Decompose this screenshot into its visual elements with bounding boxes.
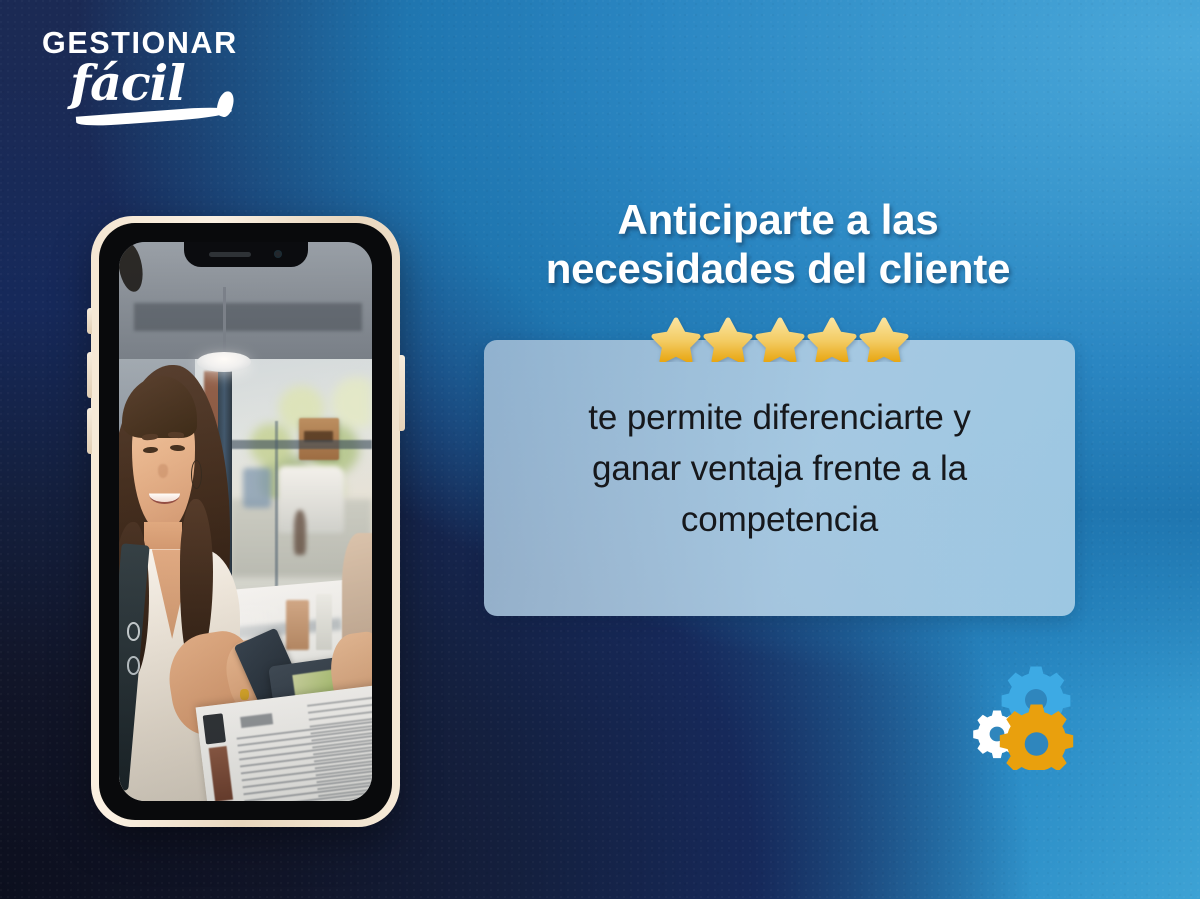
- photo-cup: [286, 600, 309, 650]
- benefit-card-text: te permite diferenciarte y ganar ventaja…: [514, 392, 1045, 545]
- phone-volume-up-button[interactable]: [87, 352, 92, 398]
- photo-car-white: [278, 466, 344, 533]
- star-icon: [702, 314, 754, 362]
- photo-wooden-sign: [299, 418, 339, 460]
- photo-pendant-lamp: [197, 352, 250, 372]
- front-camera-icon: [274, 250, 282, 258]
- photo-ceiling-beam: [134, 303, 362, 331]
- phone-silent-switch[interactable]: [87, 308, 92, 334]
- notch-icon: [184, 242, 308, 267]
- star-icon: [858, 314, 910, 362]
- benefit-card: te permite diferenciarte y ganar ventaja…: [484, 340, 1075, 616]
- star-icon: [650, 314, 702, 362]
- brand-logo-script-wrap: fácil: [42, 61, 292, 123]
- page-title: Anticiparte a las necesidades del client…: [452, 196, 1104, 293]
- photo-clipboard-clip: [203, 713, 226, 743]
- gears-icon: [968, 660, 1086, 770]
- brand-logo-script: fácil: [70, 59, 185, 108]
- earpiece-speaker-icon: [209, 252, 251, 257]
- photo-clipboard-label: [209, 746, 233, 801]
- page-title-line-1: Anticiparte a las: [452, 196, 1104, 245]
- page-title-line-2: necesidades del cliente: [452, 245, 1104, 294]
- benefit-card-line-1: te permite diferenciarte y: [514, 392, 1045, 443]
- phone-power-button[interactable]: [399, 355, 405, 431]
- brand-logo[interactable]: GESTIONAR fácil: [42, 28, 292, 133]
- customer-payment-photo: [119, 242, 372, 801]
- photo-clipboard-title: [241, 713, 274, 727]
- poster-canvas: GESTIONAR fácil: [0, 0, 1200, 899]
- photo-woman-smile: [149, 485, 179, 504]
- phone-bezel: [99, 223, 392, 820]
- photo-woman-earring: [191, 460, 202, 489]
- gear-orange: [1000, 705, 1073, 771]
- photo-bottle: [316, 594, 331, 650]
- phone-screen: [119, 242, 372, 801]
- phone-volume-down-button[interactable]: [87, 408, 92, 454]
- benefit-card-line-2: ganar ventaja frente a la: [514, 443, 1045, 494]
- photo-lamp-cord: [223, 287, 226, 360]
- star-icon: [754, 314, 806, 362]
- photo-bag-ring-2: [127, 656, 141, 675]
- benefit-card-line-3: competencia: [514, 494, 1045, 545]
- brand-logo-swoosh-tail: [215, 89, 237, 118]
- phone-mockup: [91, 216, 400, 827]
- photo-pedestrian: [294, 510, 307, 555]
- photo-car-far: [243, 468, 271, 507]
- rating-stars: [650, 314, 910, 362]
- star-icon: [806, 314, 858, 362]
- photo-woman-ring: [240, 689, 248, 700]
- photo-clipboard-second-column: [307, 694, 372, 801]
